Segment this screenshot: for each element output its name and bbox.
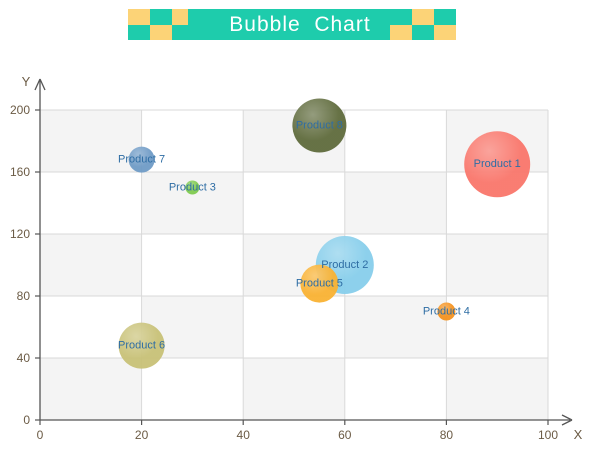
y-tick-label: 40	[17, 351, 31, 365]
bubble-label-product-2: Product 2	[321, 259, 368, 271]
bubble-label-product-8: Product 8	[296, 119, 343, 131]
plot-band	[345, 172, 447, 234]
x-axis-arrow	[562, 420, 572, 425]
y-tick-label: 160	[10, 165, 30, 179]
x-axis-title: X	[574, 427, 583, 442]
plot-band	[243, 358, 345, 420]
plot-band	[446, 358, 548, 420]
x-tick-label: 60	[338, 428, 352, 442]
y-axis-arrow	[40, 79, 45, 90]
x-tick-label: 80	[440, 428, 454, 442]
x-tick-label: 20	[135, 428, 149, 442]
y-axis-title: Y	[22, 74, 31, 89]
x-tick-label: 40	[237, 428, 251, 442]
y-tick-label: 200	[10, 103, 30, 117]
bubble-label-product-1: Product 1	[474, 158, 521, 170]
bubble-label-product-4: Product 4	[423, 305, 470, 317]
bubble-label-product-3: Product 3	[169, 181, 216, 193]
bubble-label-product-5: Product 5	[296, 278, 343, 290]
bubble-label-product-6: Product 6	[118, 340, 165, 352]
bubble-chart: 020406080100 04080120160200 Product 1Pro…	[0, 0, 600, 455]
y-axis-arrow	[35, 79, 40, 90]
x-tick-label: 0	[37, 428, 44, 442]
y-tick-label: 80	[17, 289, 31, 303]
plot-band	[40, 234, 142, 296]
plot-band	[446, 234, 548, 296]
x-tick-labels: 020406080100	[37, 428, 559, 442]
y-tick-label: 0	[23, 413, 30, 427]
y-tick-labels: 04080120160200	[10, 103, 30, 427]
plot-band	[40, 358, 142, 420]
x-axis-arrow	[562, 415, 572, 420]
bubble-label-product-7: Product 7	[118, 154, 165, 166]
x-tick-label: 100	[538, 428, 558, 442]
y-tick-label: 120	[10, 227, 30, 241]
chart-svg: 020406080100 04080120160200 Product 1Pro…	[0, 0, 600, 455]
